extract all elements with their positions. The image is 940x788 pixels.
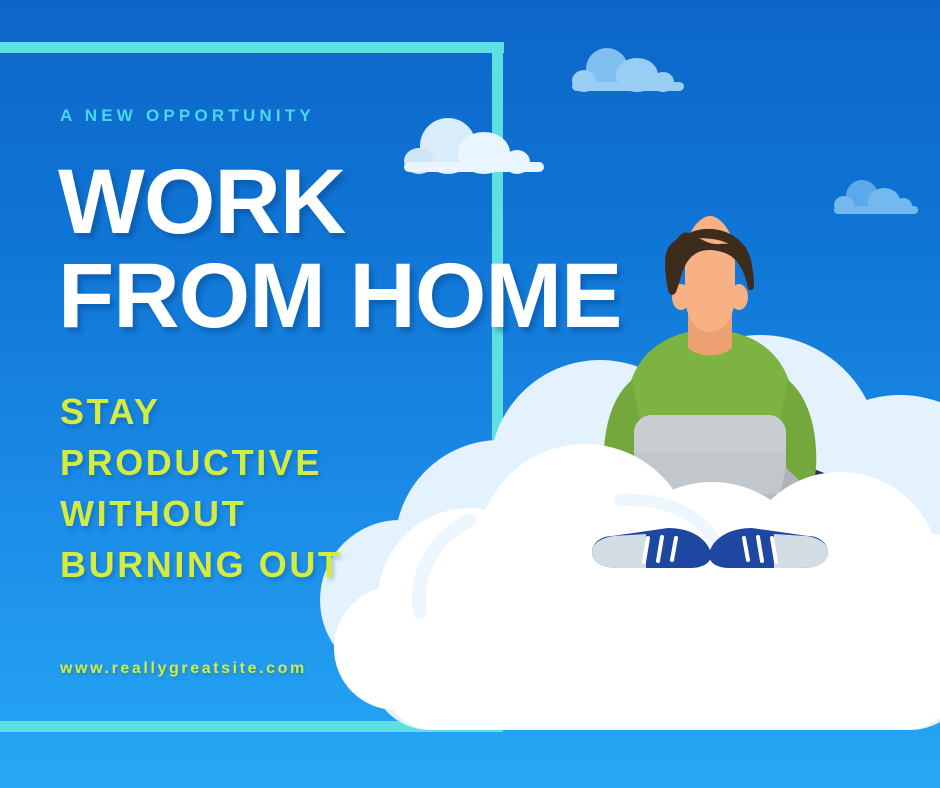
kicker-text: A NEW OPPORTUNITY (60, 106, 315, 126)
subheadline-line-4: BURNING OUT (60, 539, 343, 590)
subheadline-line-3: WITHOUT (60, 488, 343, 539)
headline-line-2: FROM HOME (58, 252, 618, 340)
person-head (665, 216, 754, 332)
poster-canvas: A NEW OPPORTUNITY WORK FROM HOME STAY PR… (0, 0, 940, 788)
page-title: WORK FROM HOME (58, 158, 618, 341)
headline-line-1: WORK (58, 158, 618, 246)
subheadline-line-1: STAY (60, 386, 343, 437)
subheadline-text: STAY PRODUCTIVE WITHOUT BURNING OUT (60, 386, 343, 590)
website-url[interactable]: www.reallygreatsite.com (60, 660, 307, 678)
subheadline-line-2: PRODUCTIVE (60, 437, 343, 488)
